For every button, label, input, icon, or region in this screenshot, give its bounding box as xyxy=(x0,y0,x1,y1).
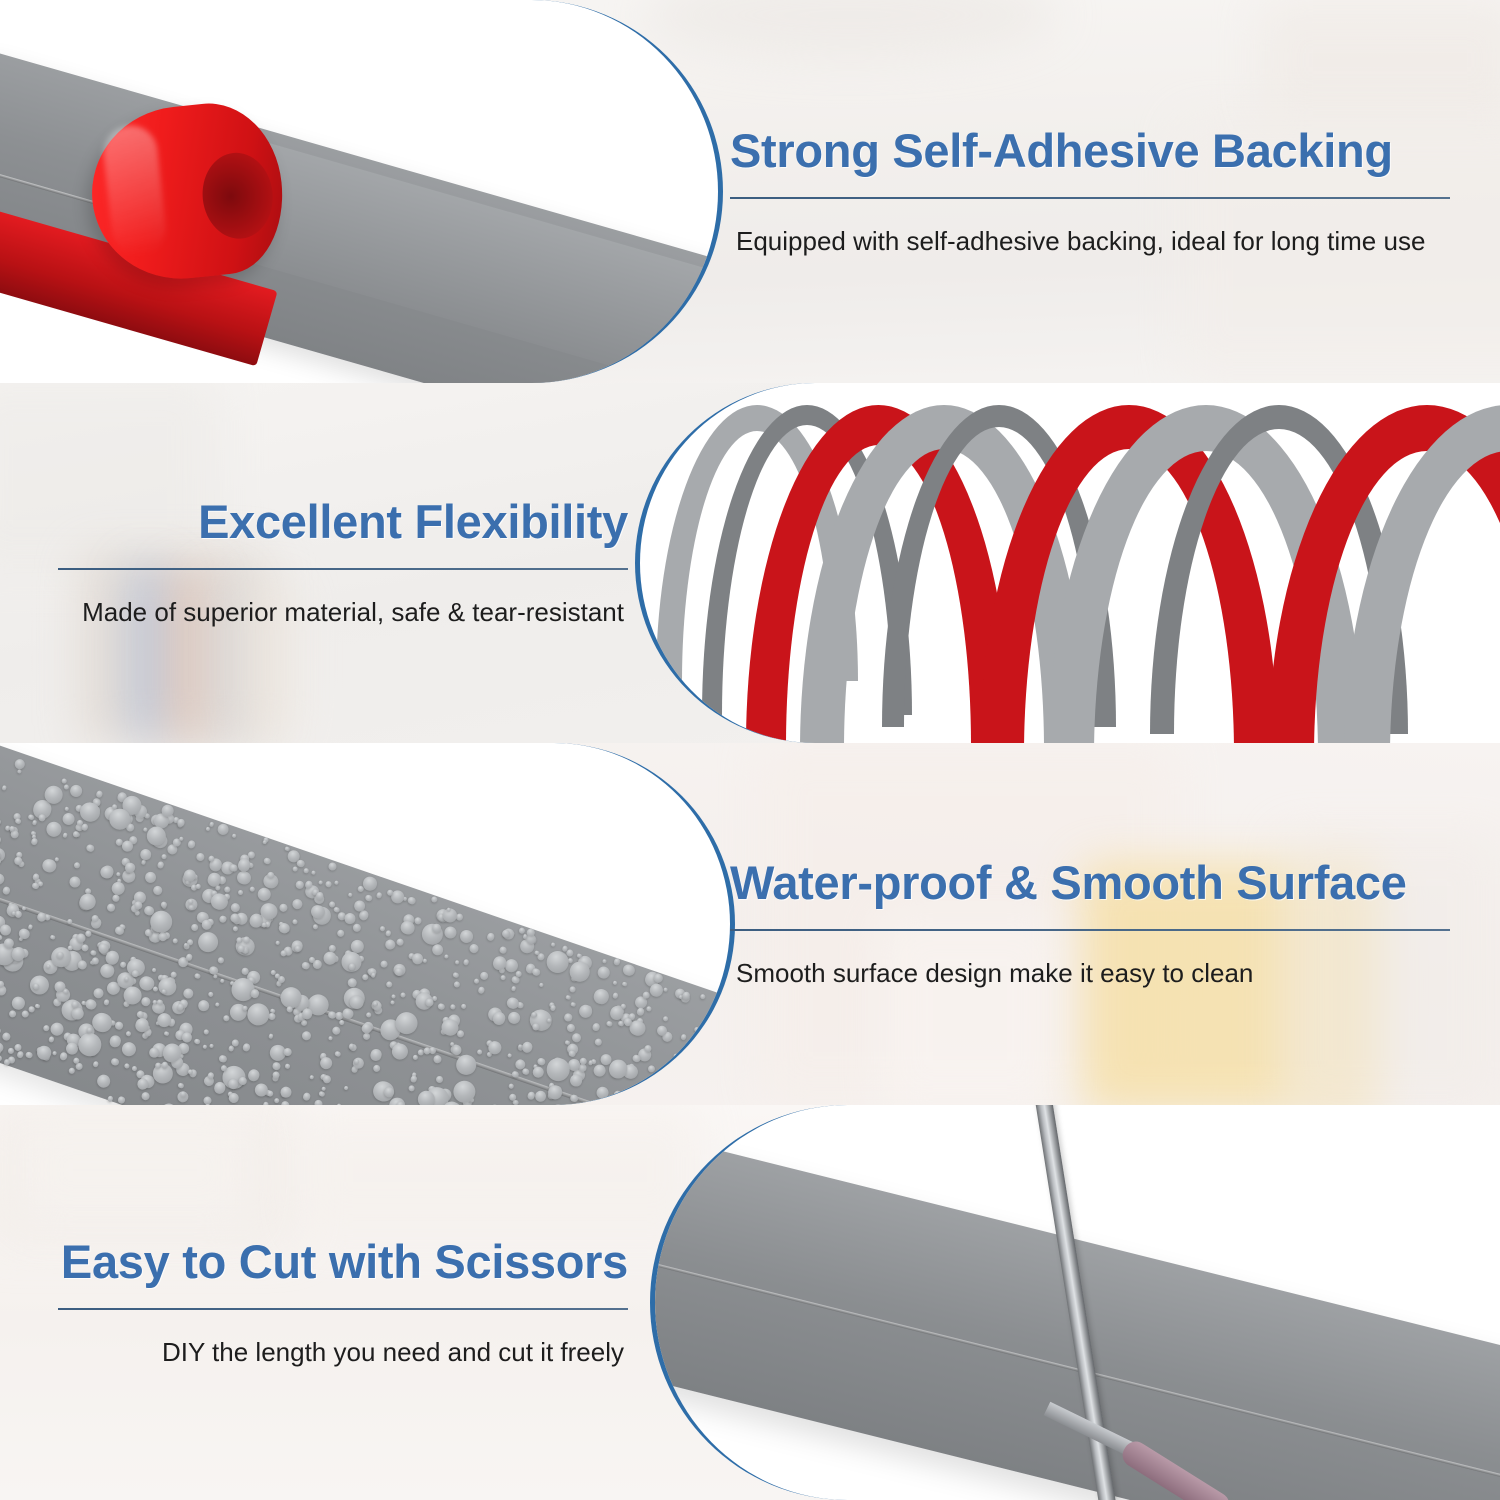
feature-row-easy-cut: Easy to Cut with Scissors DIY the length… xyxy=(0,1105,1500,1500)
feature-text-easy-cut: Easy to Cut with Scissors DIY the length… xyxy=(0,1105,650,1500)
feature-row-waterproof: Water-proof & Smooth Surface Smooth surf… xyxy=(0,743,1500,1105)
water-droplets xyxy=(0,743,735,1063)
feature-text-flexibility: Excellent Flexibility Made of superior m… xyxy=(0,383,650,743)
coil-arch xyxy=(1344,405,1500,710)
feature-headline: Excellent Flexibility xyxy=(198,497,628,546)
feature-text-waterproof: Water-proof & Smooth Surface Smooth surf… xyxy=(710,743,1500,1105)
feature-headline: Strong Self-Adhesive Backing xyxy=(730,126,1393,175)
feature-subline: Smooth surface design make it easy to cl… xyxy=(730,957,1253,990)
feature-text-self-adhesive: Strong Self-Adhesive Backing Equipped wi… xyxy=(710,0,1500,383)
feature-subline: Made of superior material, safe & tear-r… xyxy=(82,596,628,629)
feature-divider xyxy=(58,1308,628,1310)
feature-subline: Equipped with self-adhesive backing, ide… xyxy=(730,225,1425,258)
feature-headline: Easy to Cut with Scissors xyxy=(61,1237,628,1286)
feature-divider xyxy=(730,929,1450,931)
feature-headline: Water-proof & Smooth Surface xyxy=(730,858,1407,907)
feature-subline: DIY the length you need and cut it freel… xyxy=(162,1336,628,1369)
feature-row-self-adhesive: Strong Self-Adhesive Backing Equipped wi… xyxy=(0,0,1500,383)
feature-image-waterproof xyxy=(0,743,735,1105)
product-feature-infographic: Strong Self-Adhesive Backing Equipped wi… xyxy=(0,0,1500,1500)
trim-strip-with-water xyxy=(0,743,735,1105)
feature-image-flexibility xyxy=(635,383,1500,743)
feature-divider xyxy=(58,568,628,570)
feature-divider xyxy=(730,197,1450,199)
coiled-trim-strip xyxy=(650,405,1490,725)
feature-row-flexibility: Excellent Flexibility Made of superior m… xyxy=(0,383,1500,743)
feature-image-easy-cut xyxy=(650,1105,1500,1500)
feature-image-self-adhesive xyxy=(0,0,723,383)
